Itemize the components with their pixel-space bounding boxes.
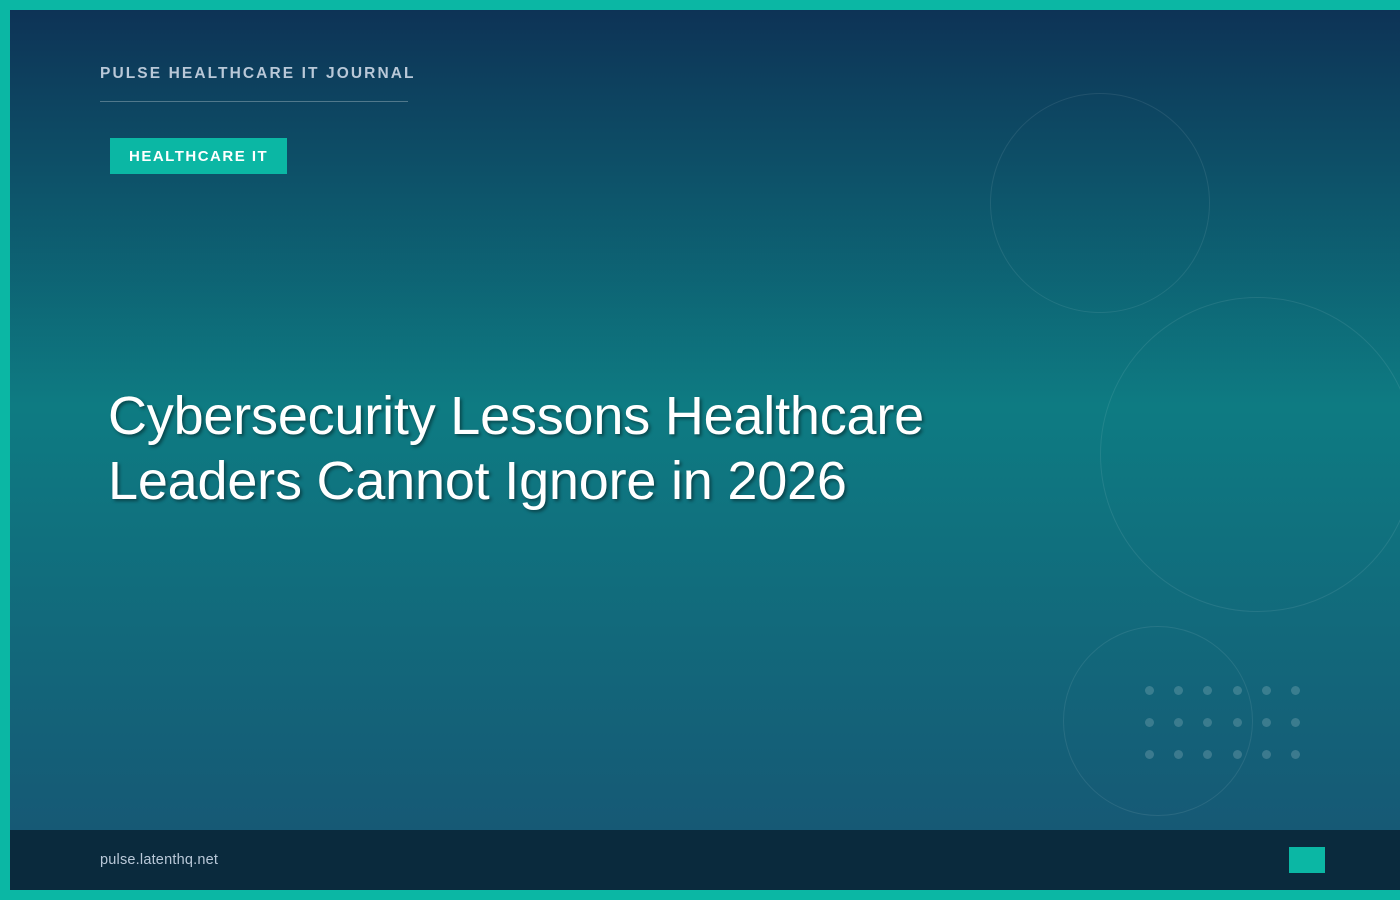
header-divider (100, 101, 408, 102)
dot-icon (1262, 686, 1271, 695)
dot-icon (1203, 750, 1212, 759)
dot-icon (1145, 686, 1154, 695)
publication-name: PULSE HEALTHCARE IT JOURNAL (100, 65, 416, 83)
circle-outline-bottom-icon (1063, 626, 1253, 816)
dot-icon (1203, 686, 1212, 695)
dot-icon (1233, 750, 1242, 759)
dot-icon (1233, 718, 1242, 727)
article-title: Cybersecurity Lessons Healthcare Leaders… (108, 384, 1058, 514)
card-footer: pulse.latenthq.net (10, 830, 1400, 890)
dot-icon (1291, 686, 1300, 695)
dot-icon (1262, 718, 1271, 727)
dot-icon (1145, 750, 1154, 759)
circle-outline-top-icon (990, 93, 1210, 313)
footer-url[interactable]: pulse.latenthq.net (100, 852, 218, 868)
dot-icon (1174, 686, 1183, 695)
category-badge-label: HEALTHCARE IT (129, 148, 268, 165)
dot-icon (1262, 750, 1271, 759)
dot-icon (1145, 718, 1154, 727)
brand-mark-icon (1289, 847, 1325, 873)
dot-grid-icon (1135, 675, 1310, 770)
dot-icon (1233, 686, 1242, 695)
card-canvas: PULSE HEALTHCARE IT JOURNAL HEALTHCARE I… (10, 10, 1400, 890)
social-card: PULSE HEALTHCARE IT JOURNAL HEALTHCARE I… (0, 0, 1400, 900)
circle-outline-middle-icon (1100, 297, 1400, 612)
publication-header: PULSE HEALTHCARE IT JOURNAL (100, 65, 416, 102)
dot-icon (1174, 718, 1183, 727)
dot-icon (1174, 750, 1183, 759)
dot-icon (1291, 750, 1300, 759)
category-badge[interactable]: HEALTHCARE IT (110, 138, 287, 174)
dot-icon (1203, 718, 1212, 727)
dot-icon (1291, 718, 1300, 727)
